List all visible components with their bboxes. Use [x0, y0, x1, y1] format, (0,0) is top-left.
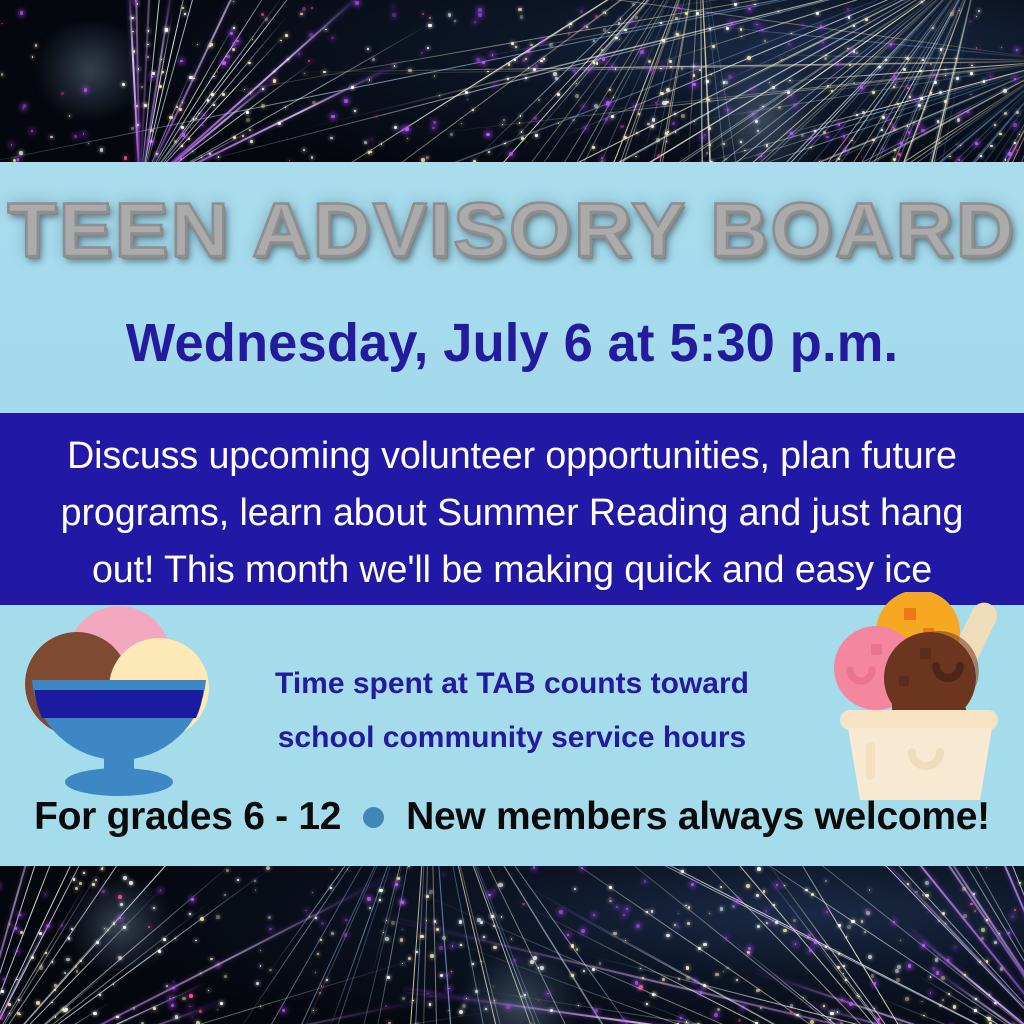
event-date-time: Wednesday, July 6 at 5:30 p.m. [15, 312, 1008, 374]
fireworks-background-top [0, 0, 1024, 162]
welcome-text: New members always welcome! [406, 795, 990, 839]
eligibility-line: For grades 6 - 12 New members always wel… [0, 795, 1024, 839]
ice-cream-tub-icon [830, 592, 1010, 807]
grades-text: For grades 6 - 12 [34, 795, 341, 839]
sundae-bowl-icon [24, 600, 214, 800]
poster: TEEN ADVISORY BOARD Wednesday, July 6 at… [0, 0, 1024, 1024]
service-hours-note: Time spent at TAB counts toward school c… [212, 657, 812, 765]
title-text: TEEN ADVISORY BOARD [8, 193, 1017, 269]
service-hours-line-2: school community service hours [212, 711, 812, 765]
fireworks-background-bottom [0, 866, 1024, 1024]
bullet-dot-icon [363, 807, 384, 828]
service-hours-line-1: Time spent at TAB counts toward [212, 657, 812, 711]
page-title: TEEN ADVISORY BOARD [0, 193, 1024, 269]
